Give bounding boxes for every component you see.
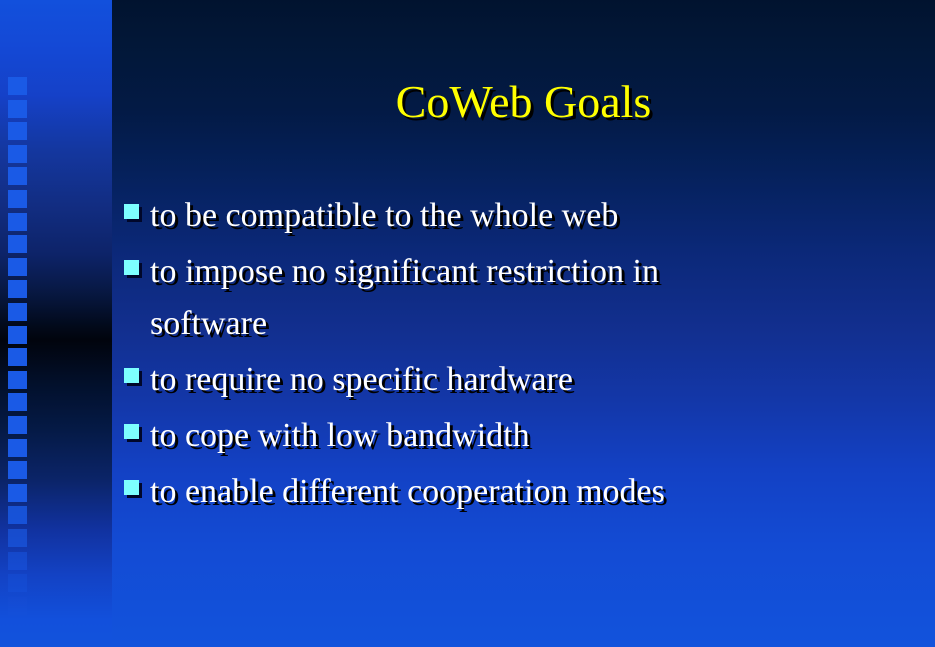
bullet-item-4: to cope with low bandwidth [124, 410, 914, 462]
sidebar-decoration-square [8, 100, 27, 118]
bullet-square-icon [124, 424, 139, 439]
slide-bullet-list: to be compatible to the whole web to imp… [124, 190, 914, 522]
sidebar-decoration-square [8, 529, 27, 547]
bullet-square-icon [124, 368, 139, 383]
bullet-square-icon [124, 260, 139, 275]
sidebar-decoration-square [8, 461, 27, 479]
sidebar-decoration-square [8, 303, 27, 321]
sidebar-decoration-square [8, 393, 27, 411]
sidebar-decoration-square [8, 326, 27, 344]
sidebar-decoration-square [8, 77, 27, 95]
bullet-item-label: to require no specific hardware [150, 354, 914, 406]
bullet-item-2: to impose no significant restriction ins… [124, 246, 914, 350]
sidebar-decoration-square [8, 484, 27, 502]
sidebar-decoration-square [8, 145, 27, 163]
sidebar-square-column [0, 0, 112, 647]
sidebar-decoration-square [8, 235, 27, 253]
sidebar-decoration-square [8, 371, 27, 389]
presentation-slide: CoWeb Goals to be compatible to the whol… [0, 0, 935, 647]
sidebar-decoration-square [8, 280, 27, 298]
bullet-square-icon [124, 480, 139, 495]
slide-sidebar-decoration [0, 0, 112, 647]
sidebar-decoration-square [8, 122, 27, 140]
bullet-item-label: to be compatible to the whole web [150, 190, 914, 242]
sidebar-decoration-square [8, 552, 27, 570]
sidebar-decoration-square [8, 258, 27, 276]
bullet-square-icon [124, 204, 139, 219]
bullet-item-label: to cope with low bandwidth [150, 410, 914, 462]
bullet-item-label: to enable different cooperation modes [150, 466, 914, 518]
sidebar-decoration-square [8, 213, 27, 231]
sidebar-decoration-square [8, 574, 27, 592]
sidebar-decoration-square [8, 348, 27, 366]
bullet-item-5: to enable different cooperation modes [124, 466, 914, 518]
bullet-item-label: to impose no significant restriction ins… [150, 246, 914, 350]
bullet-item-1: to be compatible to the whole web [124, 190, 914, 242]
bullet-item-3: to require no specific hardware [124, 354, 914, 406]
slide-title: CoWeb Goals [112, 74, 935, 130]
bullet-item-label-line-1: to impose no significant restriction in [150, 246, 914, 298]
sidebar-decoration-square [8, 167, 27, 185]
sidebar-decoration-square [8, 597, 27, 615]
sidebar-decoration-square [8, 506, 27, 524]
sidebar-decoration-square [8, 190, 27, 208]
bullet-item-label-line-2: software [150, 298, 914, 350]
sidebar-decoration-square [8, 416, 27, 434]
sidebar-decoration-square [8, 439, 27, 457]
